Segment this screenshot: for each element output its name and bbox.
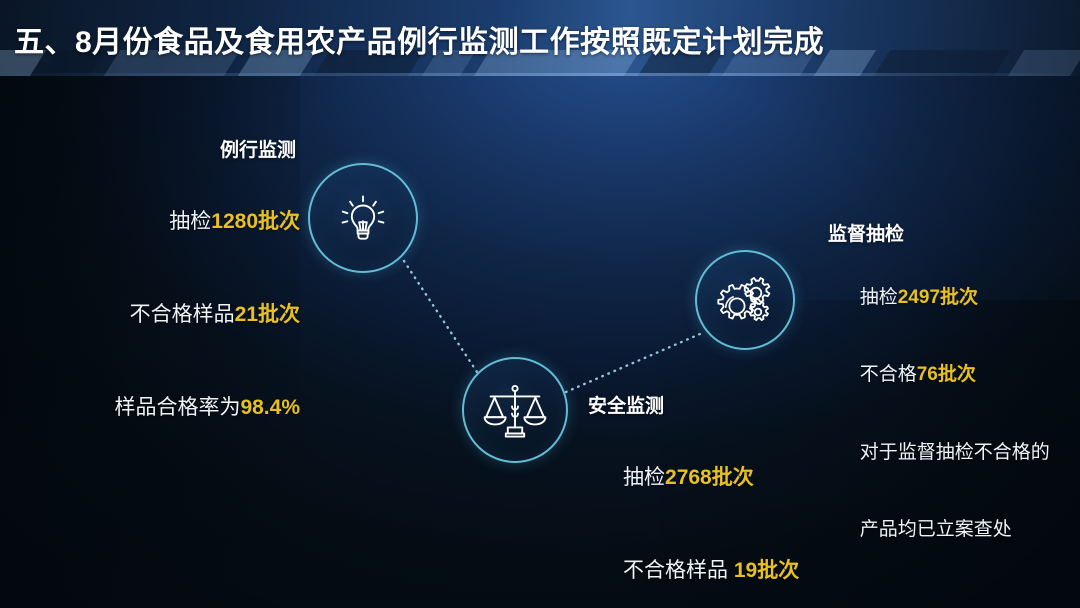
stat-line: 抽检1280批次 xyxy=(0,175,300,268)
stat-value: 98.4% xyxy=(240,396,300,419)
stat-line: 样品合格率为98.4% xyxy=(0,361,300,454)
text-block-safety: 安全监测 抽检2768批次 不合格样品 19批次 样品合格率为99.3% xyxy=(588,396,888,608)
block-heading-supervise: 监督抽检 xyxy=(828,224,1078,247)
stat-suffix: 批次 xyxy=(258,210,300,233)
stat-value: 2497 xyxy=(898,287,940,308)
stat-suffix: 批次 xyxy=(712,466,754,489)
node-safety-monitoring[interactable] xyxy=(462,357,568,463)
stat-suffix: 批次 xyxy=(938,364,976,385)
stat-prefix: 样品合格率为 xyxy=(114,396,240,419)
stat-prefix: 抽检 xyxy=(860,287,898,308)
stat-line: 抽检2497批次 xyxy=(828,259,1078,336)
header-underline xyxy=(0,73,1080,76)
stat-suffix: 批次 xyxy=(940,287,978,308)
slide-root: 五、8月份食品及食用农产品例行监测工作按照既定计划完成 xyxy=(0,0,1080,608)
balance-scales-icon xyxy=(480,375,550,445)
gears-icon xyxy=(713,268,777,332)
stat-value: 2768 xyxy=(665,466,712,489)
stat-prefix: 不合格样品 xyxy=(623,559,734,582)
stat-line: 不合格样品 19批次 xyxy=(588,524,888,608)
page-title: 五、8月份食品及食用农产品例行监测工作按照既定计划完成 xyxy=(14,17,824,61)
stat-suffix: 批次 xyxy=(757,559,799,582)
node-supervision-sampling[interactable] xyxy=(695,250,795,350)
stat-prefix: 对于监督抽检不合格的 xyxy=(860,442,1050,463)
stat-value: 1280 xyxy=(211,210,258,233)
stat-value: 21 xyxy=(235,303,258,326)
stat-line: 抽检2768批次 xyxy=(588,431,888,524)
stat-value: 19 xyxy=(734,559,757,582)
stat-prefix: 不合格 xyxy=(860,364,917,385)
stat-value: 76 xyxy=(917,364,938,385)
stat-prefix: 不合格样品 xyxy=(130,303,235,326)
stat-prefix: 抽检 xyxy=(169,210,211,233)
stat-suffix: 批次 xyxy=(258,303,300,326)
stat-line: 不合格样品21批次 xyxy=(0,268,300,361)
block-heading-routine: 例行监测 xyxy=(0,140,300,163)
node-routine-monitoring[interactable] xyxy=(308,163,418,273)
stat-prefix: 抽检 xyxy=(623,466,665,489)
text-block-routine: 例行监测 抽检1280批次 不合格样品21批次 样品合格率为98.4% xyxy=(0,140,300,455)
lightbulb-icon xyxy=(330,185,396,251)
block-heading-safety: 安全监测 xyxy=(588,396,888,419)
